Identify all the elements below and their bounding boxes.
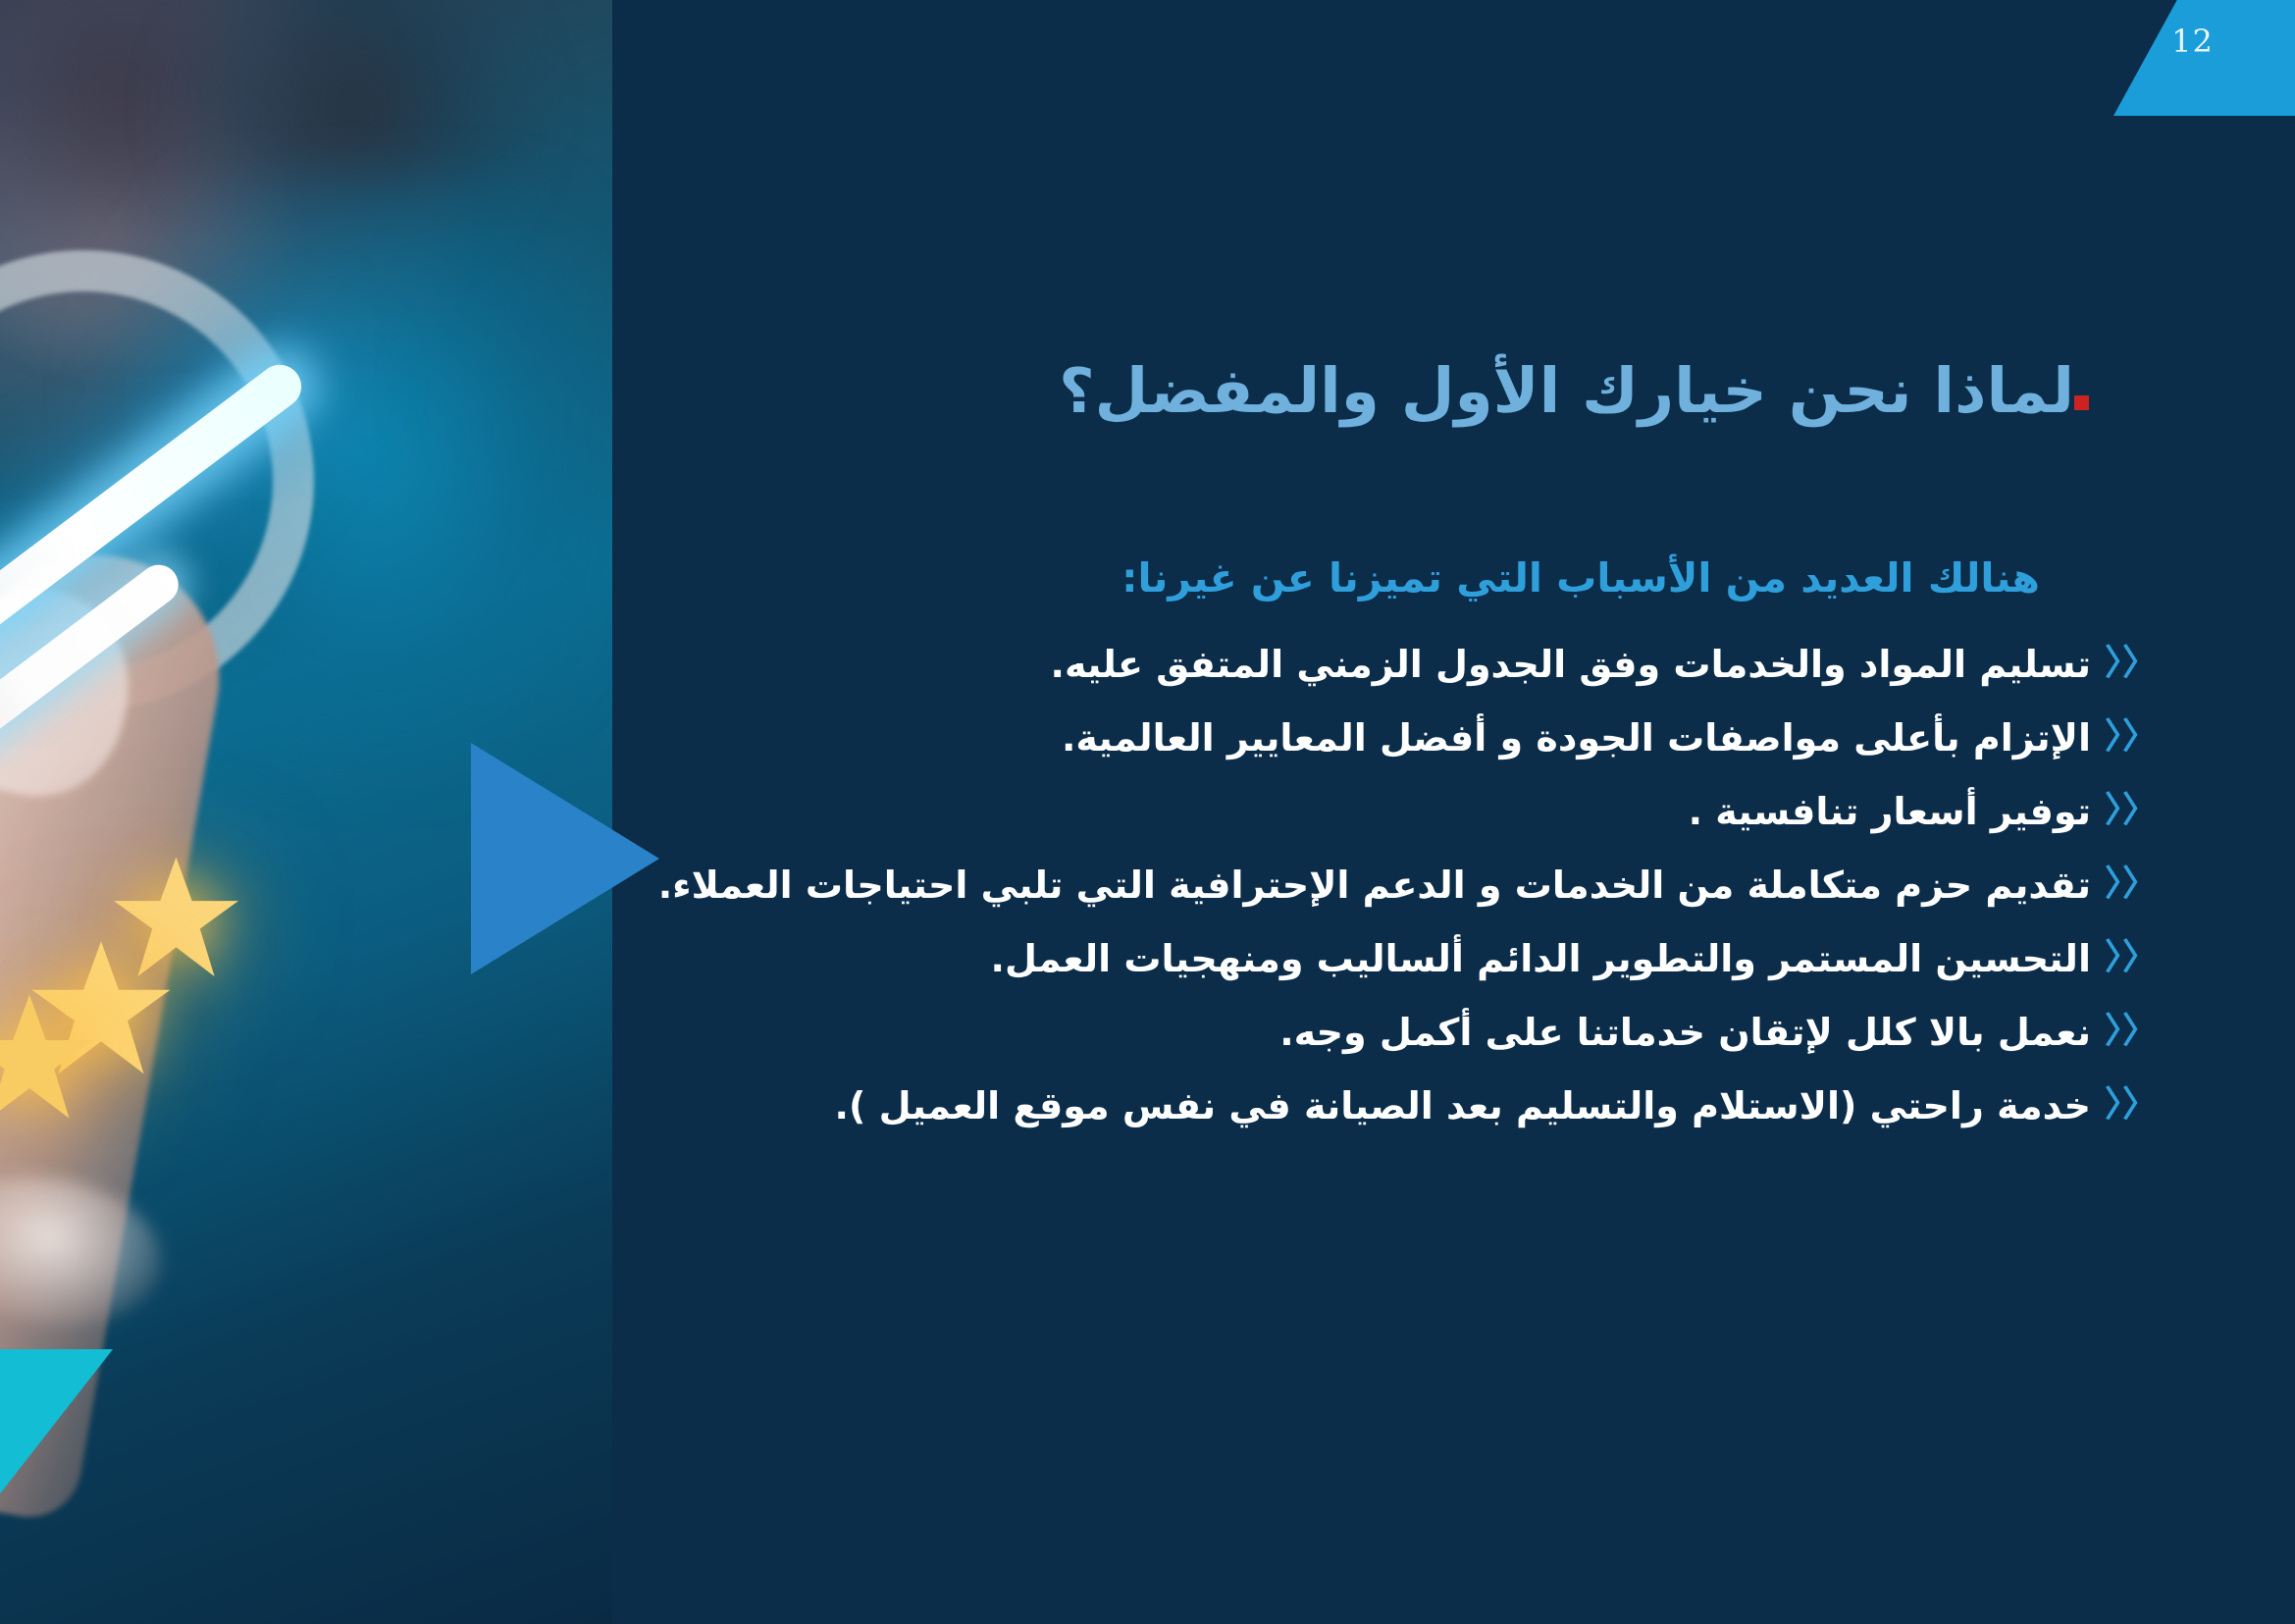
benefits-list: 〈〈 تسليم المواد والخدمات وفق الجدول الزم… xyxy=(784,643,2158,1159)
list-item-label: خدمة راحتي (الاستلام والتسليم بعد الصيان… xyxy=(835,1084,2091,1127)
list-item-label: التحسين المستمر والتطوير الدائم ألساليب … xyxy=(991,937,2091,980)
slide-root: 12 لماذا نحن خيارك الأول والمفضل؟ هنالك … xyxy=(0,0,2295,1624)
chevron-double-left-icon: 〈〈 xyxy=(2105,1084,2158,1126)
chevron-double-left-icon: 〈〈 xyxy=(2105,643,2158,684)
list-item-label: تقديم حزم متكاملة من الخدمات و الدعم الإ… xyxy=(658,864,2091,907)
chevron-double-left-icon: 〈〈 xyxy=(2105,864,2158,905)
cyan-triangle-accent xyxy=(0,1349,113,1506)
slide-content: لماذا نحن خيارك الأول والمفضل؟ هنالك الع… xyxy=(628,0,2295,1624)
list-item: 〈〈 توفير أسعار تنافسية . xyxy=(784,790,2158,833)
chevron-double-left-icon: 〈〈 xyxy=(2105,716,2158,758)
list-item: 〈〈 تسليم المواد والخدمات وفق الجدول الزم… xyxy=(784,643,2158,686)
list-item-label: نعمل بالا كلل لإتقان خدماتنا على أكمل وج… xyxy=(1279,1011,2091,1054)
photo-knuckle-highlight xyxy=(0,1162,171,1339)
list-item: 〈〈 التحسين المستمر والتطوير الدائم ألسال… xyxy=(784,937,2158,980)
page-title-text: لماذا نحن خيارك الأول والمفضل؟ xyxy=(1059,355,2074,427)
list-item-label: تسليم المواد والخدمات وفق الجدول الزمني … xyxy=(1051,643,2091,686)
chevron-double-left-icon: 〈〈 xyxy=(2105,1011,2158,1052)
page-title: لماذا نحن خيارك الأول والمفضل؟ xyxy=(1059,355,2099,427)
subtitle-text: هنالك العديد من الأسباب التي تميزنا عن غ… xyxy=(1121,554,2040,602)
chevron-double-left-icon: 〈〈 xyxy=(2105,937,2158,978)
list-item: 〈〈 الإتزام بأعلى مواصفات الجودة و أفضل ا… xyxy=(784,716,2158,760)
title-dot-icon xyxy=(2074,395,2089,410)
list-item: 〈〈 خدمة راحتي (الاستلام والتسليم بعد الص… xyxy=(784,1084,2158,1127)
chevron-double-left-icon: 〈〈 xyxy=(2105,790,2158,831)
list-item-label: توفير أسعار تنافسية . xyxy=(1689,790,2091,833)
list-item: 〈〈 نعمل بالا كلل لإتقان خدماتنا على أكمل… xyxy=(784,1011,2158,1054)
list-item: 〈〈 تقديم حزم متكاملة من الخدمات و الدعم … xyxy=(784,864,2158,907)
list-item-label: الإتزام بأعلى مواصفات الجودة و أفضل المع… xyxy=(1062,716,2091,760)
